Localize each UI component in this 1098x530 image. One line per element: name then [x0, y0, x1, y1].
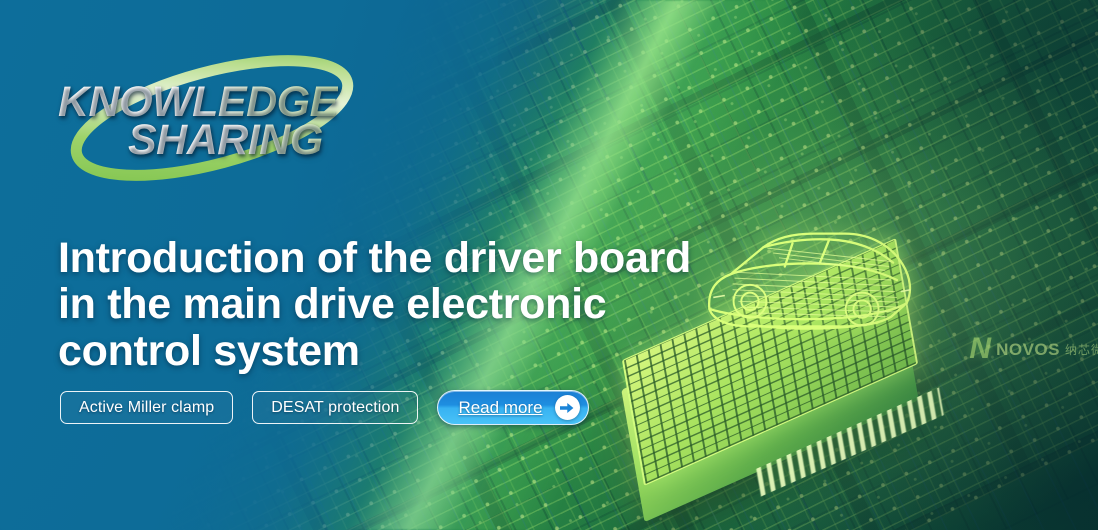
banner-content: KNOWLEDGE SHARING Introduction of the dr… [0, 0, 1098, 530]
headline-line-3: control system [58, 328, 818, 374]
arrow-right-icon [555, 395, 580, 420]
headline-line-1: Introduction of the driver board [58, 235, 818, 281]
headline-line-2: in the main drive electronic [58, 281, 818, 327]
page-title: Introduction of the driver board in the … [58, 235, 818, 374]
knowledge-sharing-logo: KNOWLEDGE SHARING [52, 52, 372, 180]
tag-row: Active Miller clamp DESAT protection Rea… [60, 390, 589, 425]
swoosh-ellipse-icon [52, 52, 372, 180]
tag-active-miller-clamp[interactable]: Active Miller clamp [60, 391, 233, 424]
read-more-label: Read more [458, 398, 542, 418]
knowledge-sharing-banner: N NOVOS 纳芯微 [0, 0, 1098, 530]
read-more-button[interactable]: Read more [437, 390, 588, 425]
tag-desat-protection[interactable]: DESAT protection [252, 391, 418, 424]
